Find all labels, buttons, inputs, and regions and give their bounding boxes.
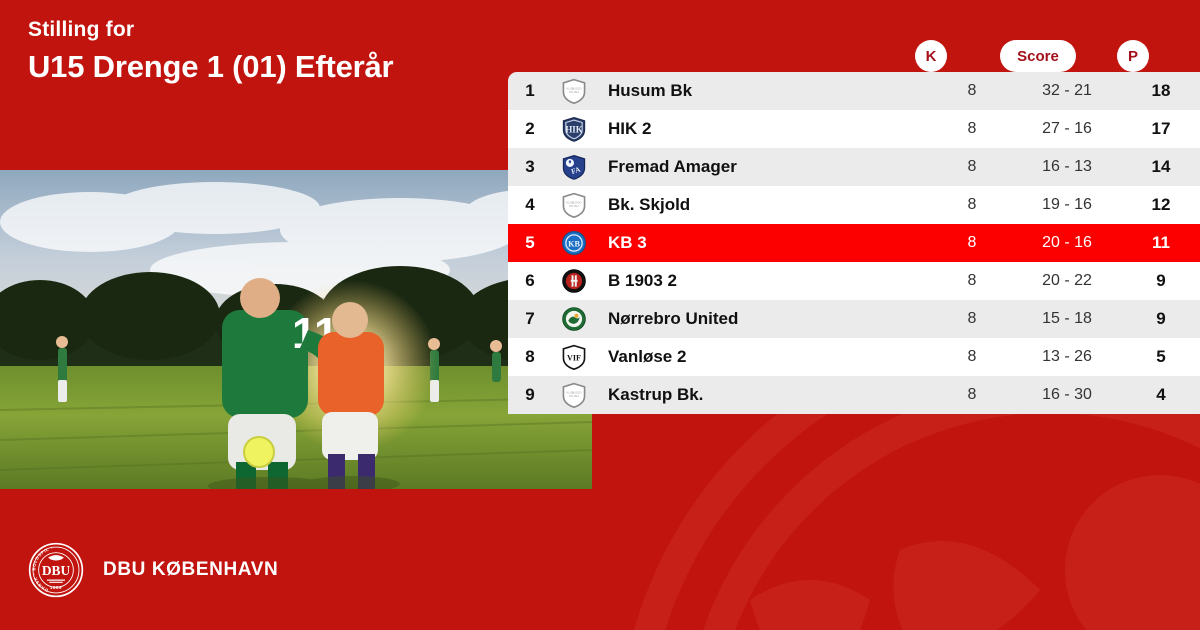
svg-text:DBU: DBU xyxy=(42,563,71,578)
row-matches-played: 8 xyxy=(932,120,1012,138)
svg-text:VIF: VIF xyxy=(567,353,581,362)
hero-photo: 11 xyxy=(0,170,592,489)
row-points: 9 xyxy=(1122,271,1200,291)
footer-branding: DANSK · BOLDSPIL · UNION DBU 1889 DBU KØ… xyxy=(28,542,278,598)
row-team-name: Kastrup Bk. xyxy=(596,385,932,405)
row-team-name: B 1903 2 xyxy=(596,271,932,291)
table-row[interactable]: 3 FAFremad Amager816 - 1314 xyxy=(508,148,1200,186)
row-matches-played: 8 xyxy=(932,272,1012,290)
standings-table: 1 KLUBLOGO PÅ VEJHusum Bk832 - 21182 HIK… xyxy=(508,72,1200,414)
row-matches-played: 8 xyxy=(932,196,1012,214)
row-points: 18 xyxy=(1122,81,1200,101)
row-goal-score: 19 - 16 xyxy=(1012,196,1122,214)
row-team-name: Fremad Amager xyxy=(596,157,932,177)
row-position: 2 xyxy=(508,119,552,139)
row-matches-played: 8 xyxy=(932,386,1012,404)
svg-text:KLUBLOGO: KLUBLOGO xyxy=(566,200,581,204)
column-header-badges: K Score P xyxy=(0,0,1200,72)
shield-generic-icon: KLUBLOGO PÅ VEJ xyxy=(552,382,596,408)
table-row[interactable]: 4 KLUBLOGO PÅ VEJBk. Skjold819 - 1612 xyxy=(508,186,1200,224)
svg-text:1889: 1889 xyxy=(50,585,62,590)
shield-generic-icon: KLUBLOGO PÅ VEJ xyxy=(552,78,596,104)
row-goal-score: 16 - 13 xyxy=(1012,158,1122,176)
row-goal-score: 20 - 22 xyxy=(1012,272,1122,290)
table-row[interactable]: 9 KLUBLOGO PÅ VEJKastrup Bk.816 - 304 xyxy=(508,376,1200,414)
row-position: 4 xyxy=(508,195,552,215)
row-goal-score: 13 - 26 xyxy=(1012,348,1122,366)
row-team-name: Vanløse 2 xyxy=(596,347,932,367)
row-matches-played: 8 xyxy=(932,82,1012,100)
row-team-name: Husum Bk xyxy=(596,81,932,101)
table-row[interactable]: 5 KBKB 3820 - 1611 xyxy=(508,224,1200,262)
row-points: 9 xyxy=(1122,309,1200,329)
row-position: 9 xyxy=(508,385,552,405)
row-points: 12 xyxy=(1122,195,1200,215)
row-team-name: Nørrebro United xyxy=(596,309,932,329)
row-position: 3 xyxy=(508,157,552,177)
row-goal-score: 16 - 30 xyxy=(1012,386,1122,404)
row-position: 8 xyxy=(508,347,552,367)
row-points: 17 xyxy=(1122,119,1200,139)
table-row[interactable]: 2 HIKHIK 2827 - 1617 xyxy=(508,110,1200,148)
row-matches-played: 8 xyxy=(932,234,1012,252)
row-goal-score: 27 - 16 xyxy=(1012,120,1122,138)
row-matches-played: 8 xyxy=(932,310,1012,328)
row-position: 5 xyxy=(508,233,552,253)
column-header-k: K xyxy=(915,40,947,72)
row-position: 1 xyxy=(508,81,552,101)
b1903-circle-icon xyxy=(552,268,596,294)
svg-text:HIK: HIK xyxy=(565,124,582,134)
row-matches-played: 8 xyxy=(932,348,1012,366)
table-row[interactable]: 8 VIFVanløse 2813 - 265 xyxy=(508,338,1200,376)
row-position: 7 xyxy=(508,309,552,329)
row-matches-played: 8 xyxy=(932,158,1012,176)
row-team-name: Bk. Skjold xyxy=(596,195,932,215)
row-points: 4 xyxy=(1122,385,1200,405)
svg-text:KLUBLOGO: KLUBLOGO xyxy=(566,86,581,90)
table-row[interactable]: 6 B 1903 2820 - 229 xyxy=(508,262,1200,300)
row-goal-score: 20 - 16 xyxy=(1012,234,1122,252)
row-points: 14 xyxy=(1122,157,1200,177)
shield-generic-icon: KLUBLOGO PÅ VEJ xyxy=(552,192,596,218)
hik-shield-icon: HIK xyxy=(552,116,596,142)
row-goal-score: 15 - 18 xyxy=(1012,310,1122,328)
svg-text:KB: KB xyxy=(568,239,580,248)
row-points: 11 xyxy=(1122,233,1200,253)
row-team-name: HIK 2 xyxy=(596,119,932,139)
row-goal-score: 32 - 21 xyxy=(1012,82,1122,100)
svg-text:KLUBLOGO: KLUBLOGO xyxy=(566,390,581,394)
row-position: 6 xyxy=(508,271,552,291)
kb-circle-icon: KB xyxy=(552,230,596,256)
dbu-emblem-icon: DANSK · BOLDSPIL · UNION DBU 1889 xyxy=(28,542,84,598)
vif-shield-icon: VIF xyxy=(552,344,596,370)
fremad-shield-icon: FA xyxy=(552,154,596,180)
column-header-score: Score xyxy=(1000,40,1076,72)
table-row[interactable]: 1 KLUBLOGO PÅ VEJHusum Bk832 - 2118 xyxy=(508,72,1200,110)
org-name: DBU KØBENHAVN xyxy=(103,559,278,581)
norrebro-circle-icon xyxy=(552,306,596,332)
row-points: 5 xyxy=(1122,347,1200,367)
table-row[interactable]: 7 Nørrebro United815 - 189 xyxy=(508,300,1200,338)
column-header-p: P xyxy=(1117,40,1149,72)
row-team-name: KB 3 xyxy=(596,233,932,253)
